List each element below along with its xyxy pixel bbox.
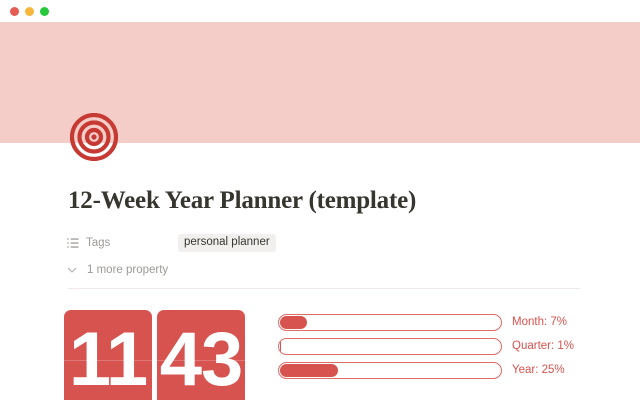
progress-label-month: Month: 7%: [512, 316, 567, 328]
flip-divider-line: [64, 360, 152, 361]
chevron-down-icon: [66, 263, 80, 277]
property-name-tags: Tags: [86, 237, 110, 249]
page-title[interactable]: 12-Week Year Planner (template): [68, 187, 416, 215]
progress-row-quarter: Quarter: 1%: [278, 337, 588, 355]
widget-area: 11 43 Month: 7%: [0, 310, 640, 400]
countdown-counters: 11 43: [64, 310, 245, 400]
progress-label-year: Year: 25%: [512, 364, 565, 376]
more-properties-toggle[interactable]: 1 more property: [66, 260, 168, 280]
progress-fill-month: [280, 316, 307, 329]
window-titlebar: [0, 0, 640, 22]
progress-bar-list: Month: 7% Quarter: 1% Year: 25%: [278, 313, 588, 385]
counter-card-weeks-remaining: 11: [64, 310, 152, 400]
window-minimize-button[interactable]: [25, 7, 34, 16]
window-close-button[interactable]: [10, 7, 19, 16]
page-properties: Tags personal planner: [66, 231, 586, 255]
list-icon: [66, 236, 80, 250]
progress-fill-year: [280, 364, 338, 377]
property-label-wrap-tags: Tags: [66, 236, 178, 250]
target-bullseye-icon[interactable]: [70, 113, 118, 161]
progress-label-quarter: Quarter: 1%: [512, 340, 574, 352]
window-maximize-button[interactable]: [40, 7, 49, 16]
page-content: 12-Week Year Planner (template): [0, 143, 640, 400]
progress-row-month: Month: 7%: [278, 313, 588, 331]
counter-card-days-remaining: 43: [157, 310, 245, 400]
progress-track-year: [278, 362, 502, 379]
progress-row-year: Year: 25%: [278, 361, 588, 379]
progress-track-month: [278, 314, 502, 331]
flip-divider-line: [157, 360, 245, 361]
app-window: 12-Week Year Planner (template): [0, 0, 640, 400]
tag-chip-personal-planner[interactable]: personal planner: [178, 234, 276, 252]
property-row-tags[interactable]: Tags personal planner: [66, 231, 586, 255]
progress-track-quarter: [278, 338, 502, 355]
more-properties-label: 1 more property: [87, 264, 168, 276]
content-divider: [68, 288, 580, 289]
